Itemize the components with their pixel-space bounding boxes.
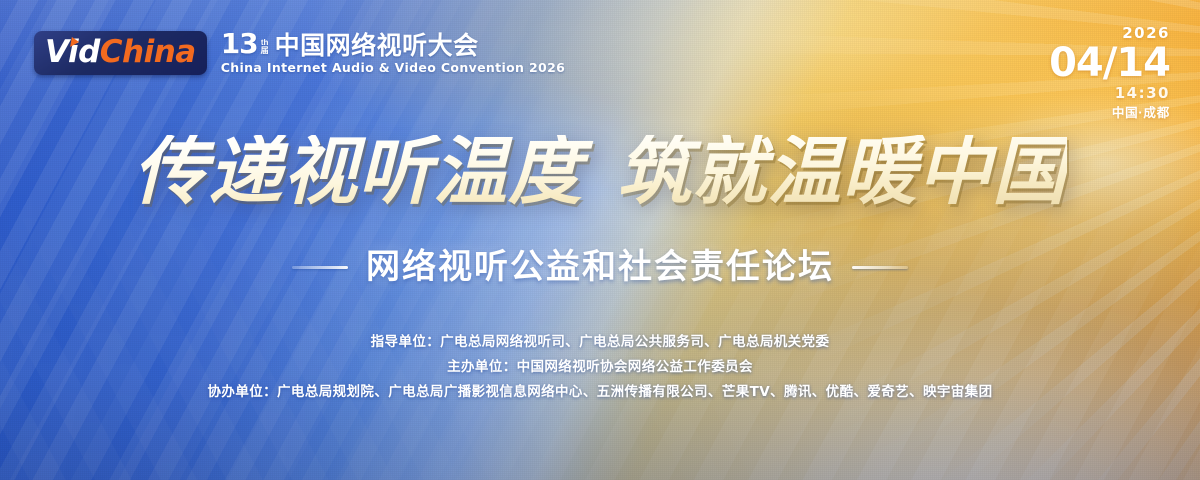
- event-name-cn: 中国网络视听大会: [275, 33, 479, 58]
- edition-ordinal-cn: 届: [261, 47, 269, 56]
- edition-suffix: th 届: [261, 39, 269, 56]
- event-title-group: 13 th 届 中国网络视听大会 China Internet Audio & …: [221, 30, 566, 75]
- edition-number: 13: [221, 30, 258, 58]
- main-title-part1: 传递视听温度: [133, 129, 583, 215]
- main-title: 传递视听温度筑就温暖中国: [133, 135, 1067, 209]
- credit-line-host: 主办单位：中国网络视听协会网络公益工作委员会: [0, 355, 1200, 380]
- event-time: 14:30: [1049, 86, 1170, 101]
- event-title-cn-row: 13 th 届 中国网络视听大会: [221, 30, 566, 58]
- main-title-area: 传递视听温度筑就温暖中国: [0, 135, 1200, 209]
- header-logo-lockup: Vid China 13 th 届 中国网络视听大会 China Interne…: [34, 30, 565, 75]
- event-poster: Vid China 13 th 届 中国网络视听大会 China Interne…: [0, 0, 1200, 480]
- main-title-part2: 筑就温暖中国: [617, 129, 1067, 215]
- event-name-en: China Internet Audio & Video Convention …: [221, 60, 566, 75]
- logo-text-china: China: [100, 37, 196, 68]
- date-block: 2026 04/14 14:30 中国·成都: [1049, 26, 1170, 120]
- vidchina-logo[interactable]: Vid China: [34, 31, 207, 75]
- play-triangle-icon: [70, 37, 80, 47]
- subtitle-dash-left: [292, 266, 348, 269]
- subtitle-area: 网络视听公益和社会责任论坛: [0, 250, 1200, 284]
- credit-line-guidance: 指导单位：广电总局网络视听司、广电总局公共服务司、广电总局机关党委: [0, 330, 1200, 355]
- subtitle-dash-right: [852, 266, 908, 269]
- forum-subtitle: 网络视听公益和社会责任论坛: [366, 250, 834, 284]
- event-date: 04/14: [1049, 43, 1170, 83]
- credit-line-coorganizer: 协办单位：广电总局规划院、广电总局广播影视信息网络中心、五洲传播有限公司、芒果T…: [0, 380, 1200, 405]
- event-year: 2026: [1049, 26, 1170, 41]
- event-location: 中国·成都: [1049, 107, 1170, 120]
- organizer-credits: 指导单位：广电总局网络视听司、广电总局公共服务司、广电总局机关党委 主办单位：中…: [0, 330, 1200, 405]
